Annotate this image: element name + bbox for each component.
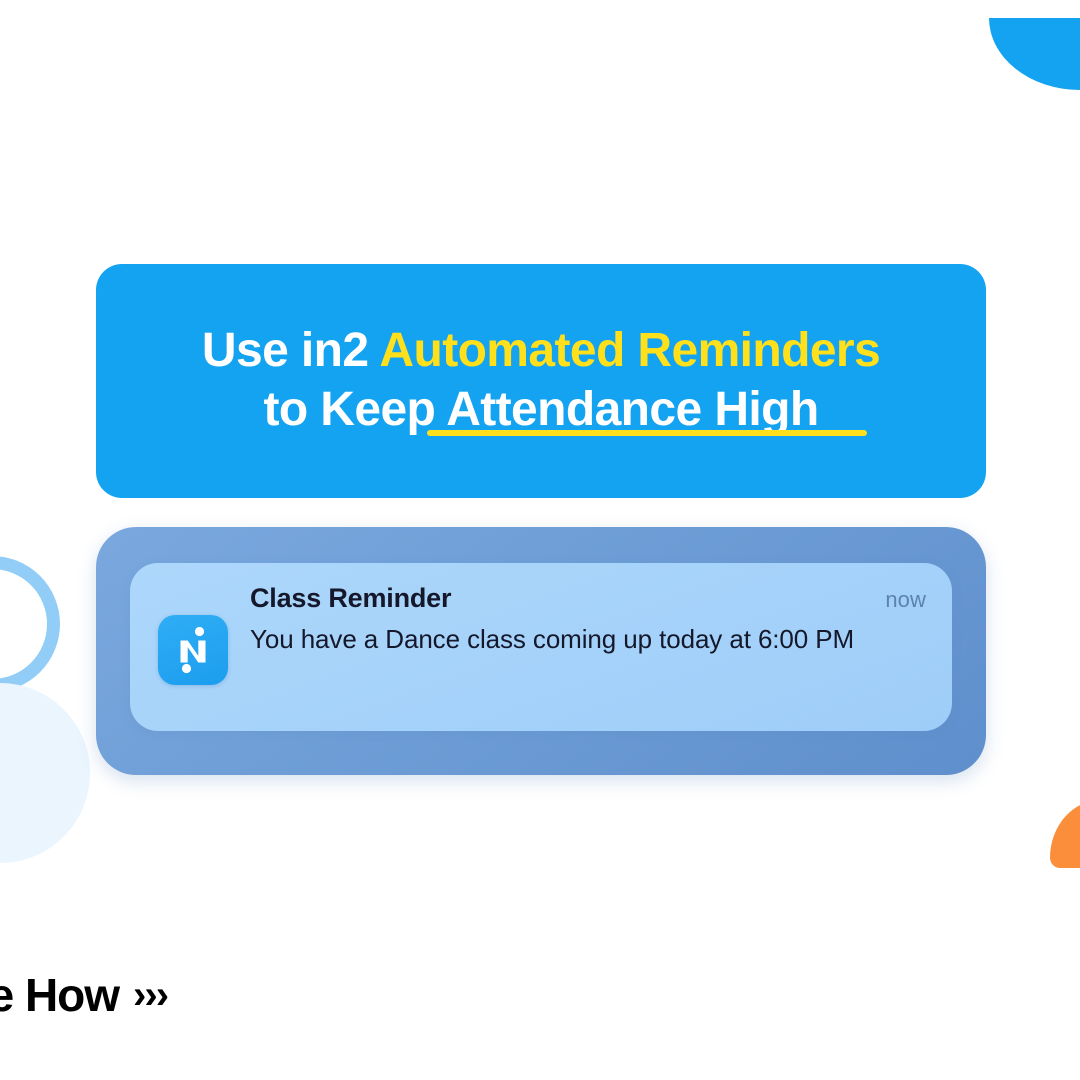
corner-quarter-circle-blue-icon bbox=[989, 18, 1080, 90]
headline-highlight: Automated Reminders bbox=[379, 324, 880, 377]
notification-timestamp: now bbox=[885, 587, 926, 613]
orange-half-circle-decoration bbox=[1050, 800, 1080, 868]
notification-title: Class Reminder bbox=[250, 583, 451, 614]
notification-header-row: Class Reminder now bbox=[250, 583, 926, 614]
filled-circle-decoration bbox=[0, 683, 90, 863]
see-how-cta[interactable]: ee How ››› bbox=[0, 968, 167, 1022]
chevron-right-icon: ››› bbox=[133, 975, 167, 1015]
headline-prefix: Use in2 bbox=[202, 324, 380, 377]
cta-label: ee How bbox=[0, 968, 119, 1022]
headline-line-1: Use in2 Automated Reminders bbox=[202, 322, 880, 381]
in2-app-icon bbox=[158, 615, 228, 685]
notification-card[interactable]: Class Reminder now You have a Dance clas… bbox=[130, 563, 952, 731]
notification-body-text: You have a Dance class coming up today a… bbox=[250, 622, 875, 657]
notification-text-column: Class Reminder now You have a Dance clas… bbox=[250, 581, 926, 657]
headline-banner: Use in2 Automated Reminders to Keep Atte… bbox=[96, 264, 986, 498]
outline-circle-decoration bbox=[0, 556, 60, 692]
headline-underline bbox=[427, 430, 867, 436]
